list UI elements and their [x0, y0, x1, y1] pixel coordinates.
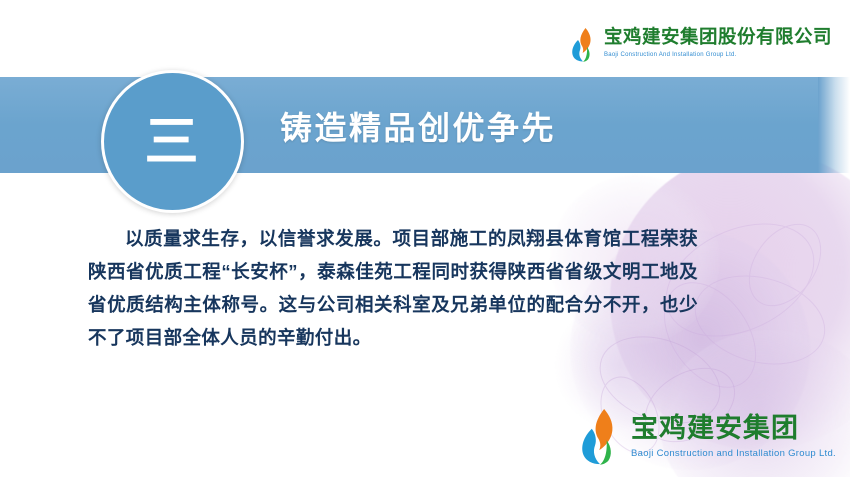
footer-company-name-cn: 宝鸡建安集团 [631, 415, 836, 442]
title-banner-fade [818, 77, 850, 173]
footer-company-logo: 宝鸡建安集团 Baoji Construction and Installati… [578, 409, 836, 465]
footer-company-name-en: Baoji Construction and Installation Grou… [631, 449, 836, 459]
flame-logo-icon [570, 28, 596, 62]
section-number-badge: 三 [101, 70, 244, 213]
flame-logo-icon [578, 409, 622, 465]
section-number: 三 [145, 115, 201, 169]
slide-canvas: 宝鸡建安集团股份有限公司 Baoji Construction And Inst… [0, 0, 850, 477]
body-paragraph: 以质量求生存，以信誉求发展。项目部施工的凤翔县体育馆工程荣获陕西省优质工程“长安… [88, 222, 698, 354]
header-company-name-cn: 宝鸡建安集团股份有限公司 [604, 28, 832, 47]
slide-title: 铸造精品创优争先 [280, 103, 556, 149]
header-company-logo: 宝鸡建安集团股份有限公司 Baoji Construction And Inst… [570, 28, 832, 62]
header-company-name-en: Baoji Construction And Installation Grou… [604, 52, 832, 58]
